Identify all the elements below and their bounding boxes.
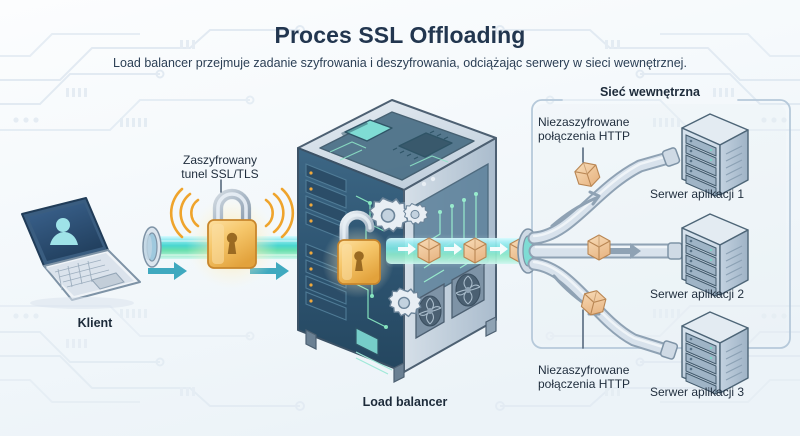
diagram-canvas: Proces SSL Offloading Load balancer prze…	[0, 0, 800, 436]
label-http-top: Niezaszyfrowane połączenia HTTP	[538, 115, 688, 143]
label-internal-network: Sieć wewnętrzna	[560, 85, 740, 100]
label-encrypted-tunnel: Zaszyfrowany tunel SSL/TLS	[160, 153, 280, 181]
label-load-balancer: Load balancer	[305, 395, 505, 410]
page-title: Proces SSL Offloading	[0, 22, 800, 49]
label-server-1: Serwer aplikacji 1	[650, 187, 800, 201]
label-server-3: Serwer aplikacji 3	[650, 385, 800, 399]
label-server-2: Serwer aplikacji 2	[650, 287, 800, 301]
label-client: Klient	[40, 316, 150, 331]
page-subtitle: Load balancer przejmuje zadanie szyfrowa…	[0, 56, 800, 71]
